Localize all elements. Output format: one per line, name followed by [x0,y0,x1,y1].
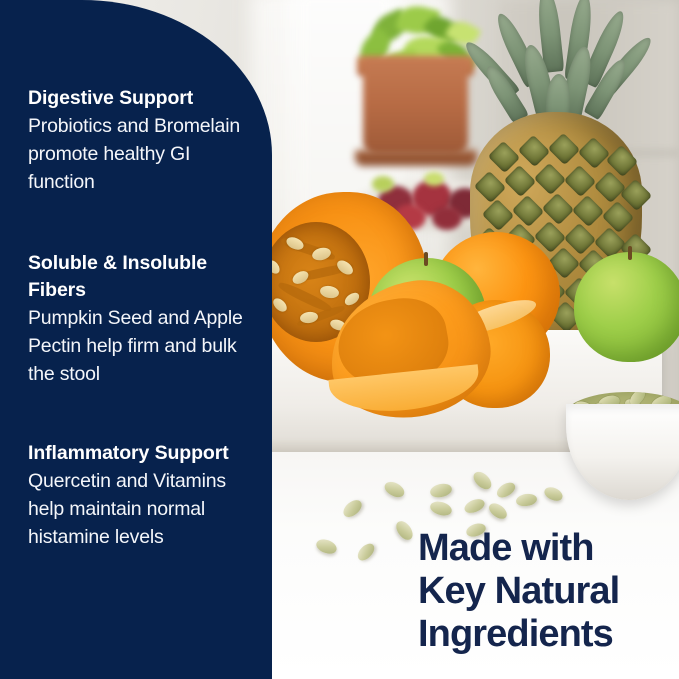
product-benefits-graphic: Digestive Support Probiotics and Bromela… [0,0,679,679]
headline-line-1: Made with [418,527,668,570]
benefit-body: Pumpkin Seed and Apple Pectin help firm … [28,304,260,388]
benefit-body: Probiotics and Bromelain promote healthy… [28,112,260,196]
benefit-body: Quercetin and Vitamins help maintain nor… [28,467,260,551]
benefit-block-soluble-insoluble-fibers: Soluble & Insoluble Fibers Pumpkin Seed … [28,250,260,388]
headline: Made with Key Natural Ingredients [418,527,668,656]
benefit-heading: Digestive Support [28,85,260,112]
benefit-heading: Soluble & Insoluble Fibers [28,250,260,304]
benefit-block-digestive-support: Digestive Support Probiotics and Bromela… [28,85,260,196]
benefit-block-inflammatory-support: Inflammatory Support Quercetin and Vitam… [28,440,260,551]
headline-line-2: Key Natural [418,570,668,613]
benefit-heading: Inflammatory Support [28,440,260,467]
headline-line-3: Ingredients [418,613,668,656]
benefits-panel: Digestive Support Probiotics and Bromela… [0,0,272,679]
